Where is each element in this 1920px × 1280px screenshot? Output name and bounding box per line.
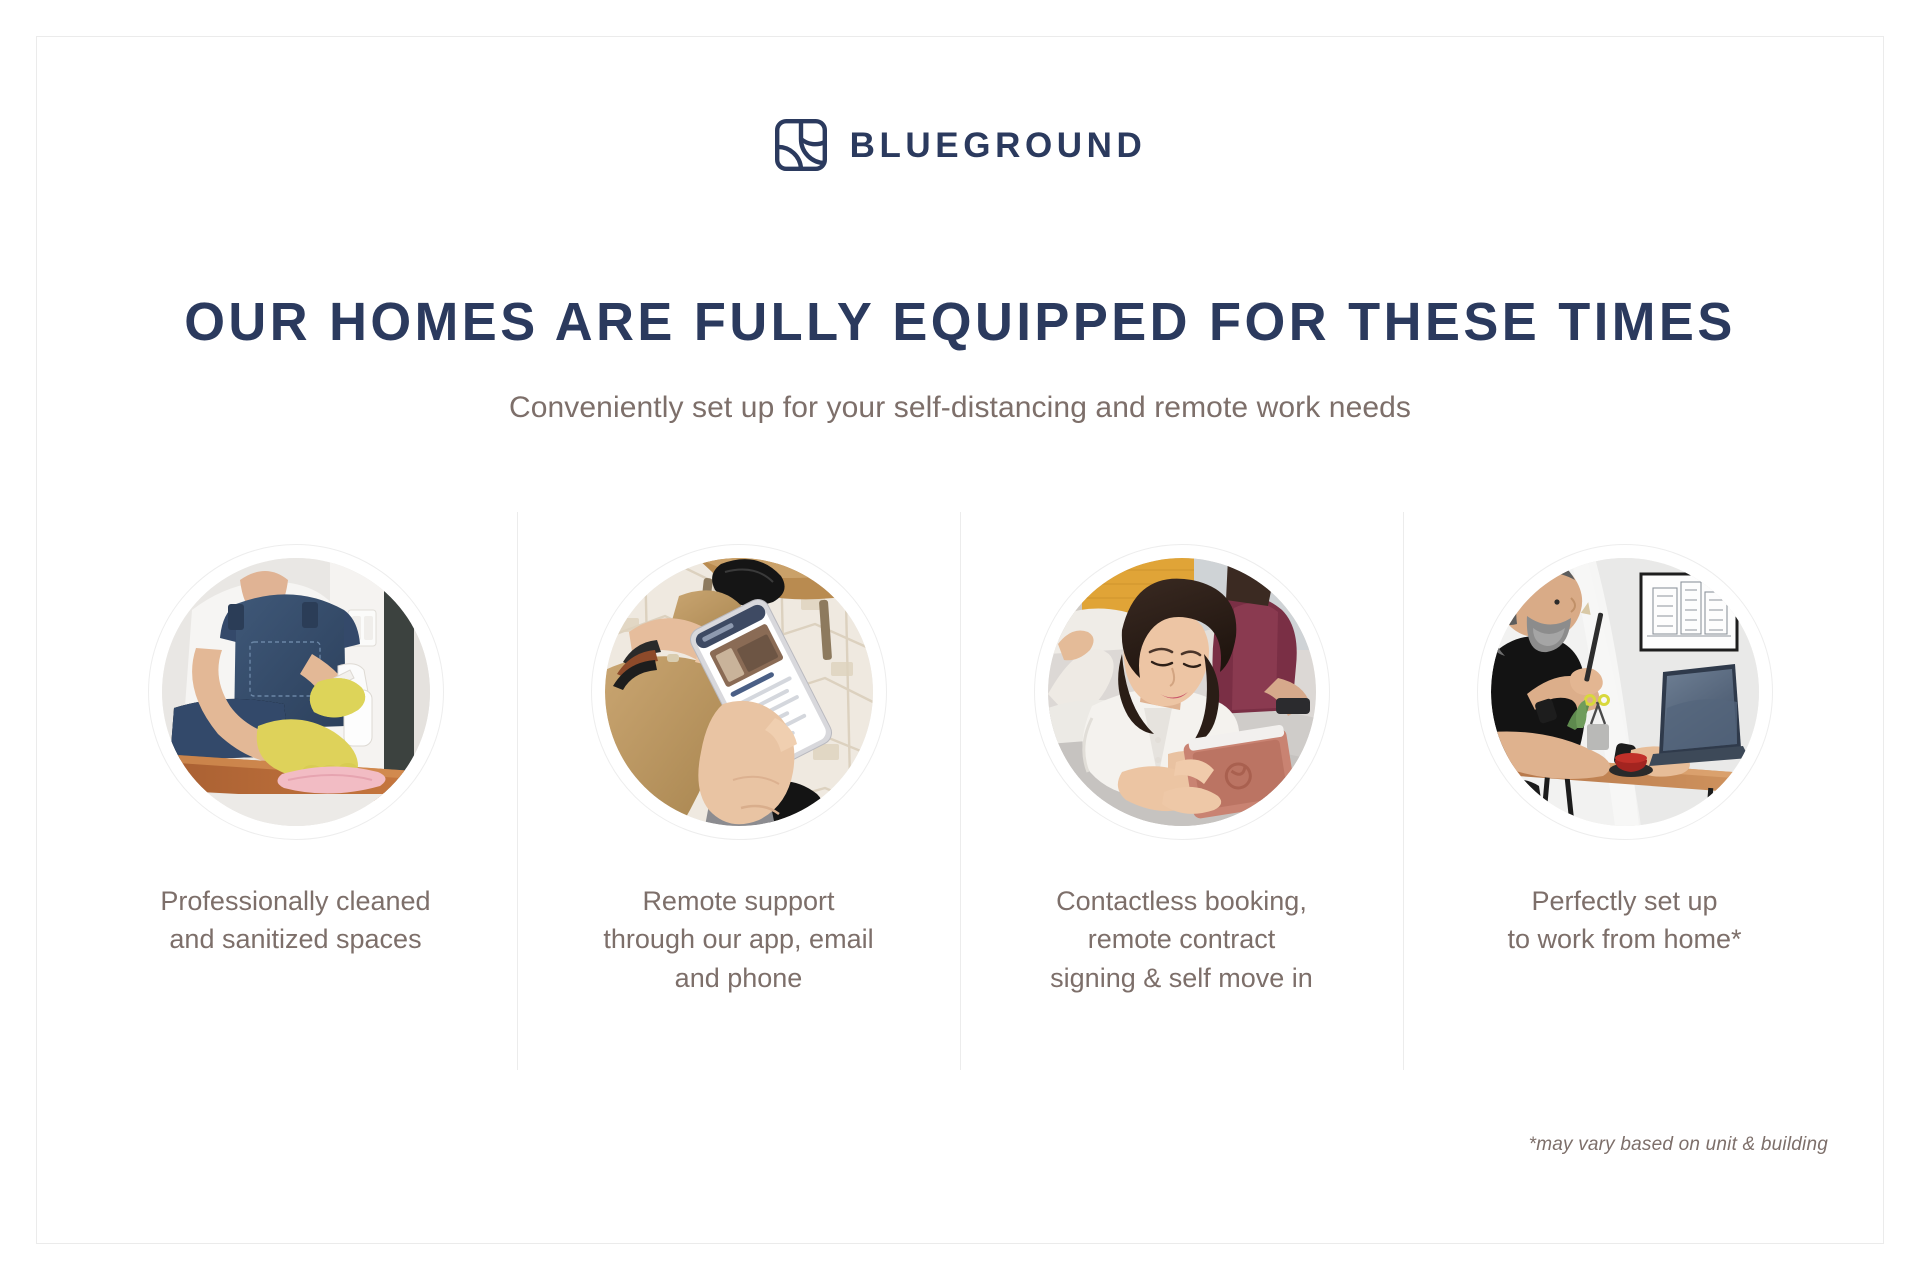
page-subheadline: Conveniently set up for your self-distan… xyxy=(0,388,1920,427)
photo-phone-support xyxy=(605,558,873,826)
blueground-square-mark-icon xyxy=(774,118,828,172)
feature-photo-ring xyxy=(1034,544,1330,840)
feature-column-professionally-cleaned: Professionally cleaned and sanitized spa… xyxy=(74,512,517,1070)
photo-tablet-booking xyxy=(1048,558,1316,826)
feature-column-contactless-booking: Contactless booking, remote contract sig… xyxy=(960,512,1403,1070)
brand-lockup: BLUEGROUND xyxy=(0,118,1920,172)
feature-column-work-from-home: Perfectly set up to work from home* xyxy=(1403,512,1846,1070)
brand-wordmark: BLUEGROUND xyxy=(850,128,1147,163)
feature-column-remote-support: Remote support through our app, email an… xyxy=(517,512,960,1070)
feature-photo-ring xyxy=(1477,544,1773,840)
photo-work-from-home xyxy=(1491,558,1759,826)
feature-columns: Professionally cleaned and sanitized spa… xyxy=(74,512,1846,1070)
feature-caption: Professionally cleaned and sanitized spa… xyxy=(74,882,517,959)
feature-caption: Contactless booking, remote contract sig… xyxy=(960,882,1403,997)
poster-canvas: BLUEGROUND OUR HOMES ARE FULLY EQUIPPED … xyxy=(0,0,1920,1280)
photo-cleaning xyxy=(162,558,430,826)
page-headline: OUR HOMES ARE FULLY EQUIPPED FOR THESE T… xyxy=(29,294,1891,351)
feature-caption: Perfectly set up to work from home* xyxy=(1403,882,1846,959)
footnote-disclaimer: *may vary based on unit & building xyxy=(1529,1134,1828,1156)
feature-caption: Remote support through our app, email an… xyxy=(517,882,960,997)
feature-photo-ring xyxy=(591,544,887,840)
feature-photo-ring xyxy=(148,544,444,840)
